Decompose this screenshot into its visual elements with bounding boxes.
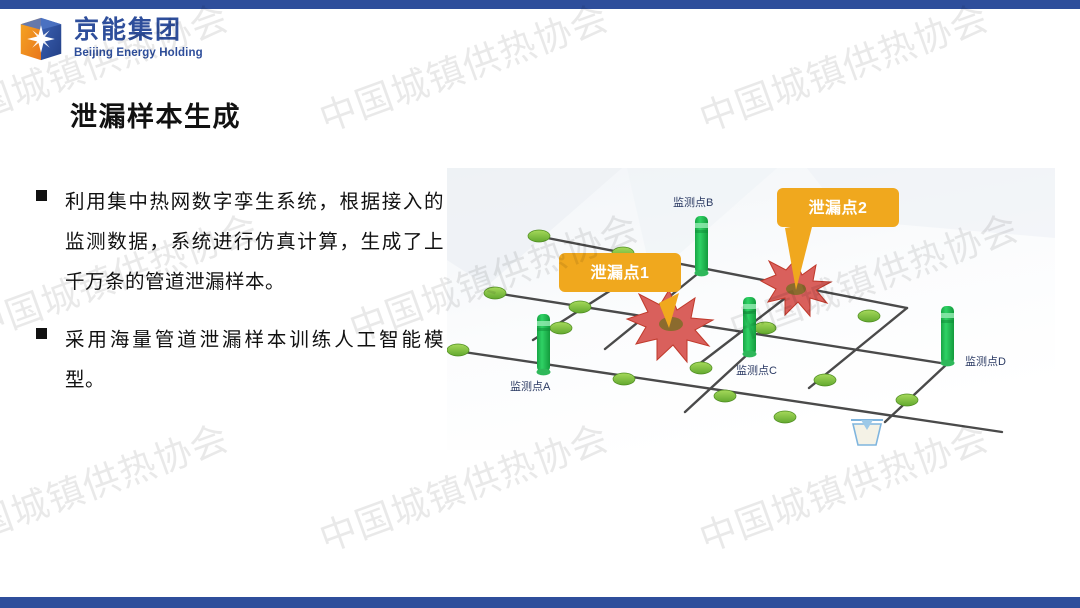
leak-callout-2-label: 泄漏点2 bbox=[809, 198, 868, 217]
list-item: 利用集中热网数字孪生系统，根据接入的监测数据，系统进行仿真计算，生成了上千万条的… bbox=[36, 182, 444, 302]
valve-icon bbox=[714, 390, 736, 402]
monitor-station-B[interactable] bbox=[695, 216, 709, 276]
watermark-text: 中国城镇供热协会 bbox=[691, 0, 995, 142]
monitor-station-A[interactable] bbox=[537, 314, 551, 375]
bullet-list: 利用集中热网数字孪生系统，根据接入的监测数据，系统进行仿真计算，生成了上千万条的… bbox=[36, 182, 444, 418]
square-bullet-icon bbox=[36, 190, 47, 201]
watermark-text: 中国城镇供热协会 bbox=[311, 0, 615, 142]
valve-icon bbox=[550, 322, 572, 334]
valve-icon bbox=[858, 310, 880, 322]
monitor-label-A: 监测点A bbox=[510, 380, 551, 393]
page-title: 泄漏样本生成 bbox=[70, 95, 241, 134]
valve-icon bbox=[569, 301, 591, 313]
watermark-text: 中国城镇供热协会 bbox=[1071, 0, 1080, 142]
valve-icon bbox=[896, 394, 918, 406]
top-accent-bar bbox=[0, 0, 1080, 9]
monitor-label-C: 监测点C bbox=[736, 364, 777, 377]
valve-icon bbox=[754, 322, 776, 334]
valve-icon bbox=[774, 411, 796, 423]
company-logo: 京能集团 Beijing Energy Holding bbox=[18, 16, 203, 62]
bullet-text: 采用海量管道泄漏样本训练人工智能模型。 bbox=[65, 320, 444, 400]
leak-callout-1-label: 泄漏点1 bbox=[591, 263, 650, 282]
watermark-text: 中国城镇供热协会 bbox=[0, 408, 235, 563]
valve-icon bbox=[447, 344, 469, 356]
watermark-text: 中国城镇供热协会 bbox=[1071, 408, 1080, 563]
monitor-station-C[interactable] bbox=[743, 297, 757, 357]
valve-icon bbox=[690, 362, 712, 374]
valve-icon bbox=[814, 374, 836, 386]
pipeline-network-diagram: 泄漏点1 泄漏点2 监测点A 监测点B 监测点C 监测点D bbox=[447, 168, 1055, 450]
valve-icon bbox=[484, 287, 506, 299]
list-item: 采用海量管道泄漏样本训练人工智能模型。 bbox=[36, 320, 444, 400]
monitor-label-D: 监测点D bbox=[965, 355, 1006, 368]
valve-icon bbox=[613, 373, 635, 385]
logo-name-cn: 京能集团 bbox=[74, 18, 203, 43]
presentation-slide: 京能集团 Beijing Energy Holding 泄漏样本生成 利用集中热… bbox=[0, 0, 1080, 608]
valve-icon bbox=[528, 230, 550, 242]
beijing-energy-hexagon-icon bbox=[18, 16, 64, 62]
monitor-station-D[interactable] bbox=[941, 306, 955, 366]
monitor-label-B: 监测点B bbox=[673, 196, 713, 209]
logo-wordmark: 京能集团 Beijing Energy Holding bbox=[74, 18, 203, 60]
square-bullet-icon bbox=[36, 328, 47, 339]
logo-name-en: Beijing Energy Holding bbox=[74, 48, 203, 60]
bottom-accent-bar bbox=[0, 597, 1080, 608]
bullet-text: 利用集中热网数字孪生系统，根据接入的监测数据，系统进行仿真计算，生成了上千万条的… bbox=[65, 182, 444, 302]
